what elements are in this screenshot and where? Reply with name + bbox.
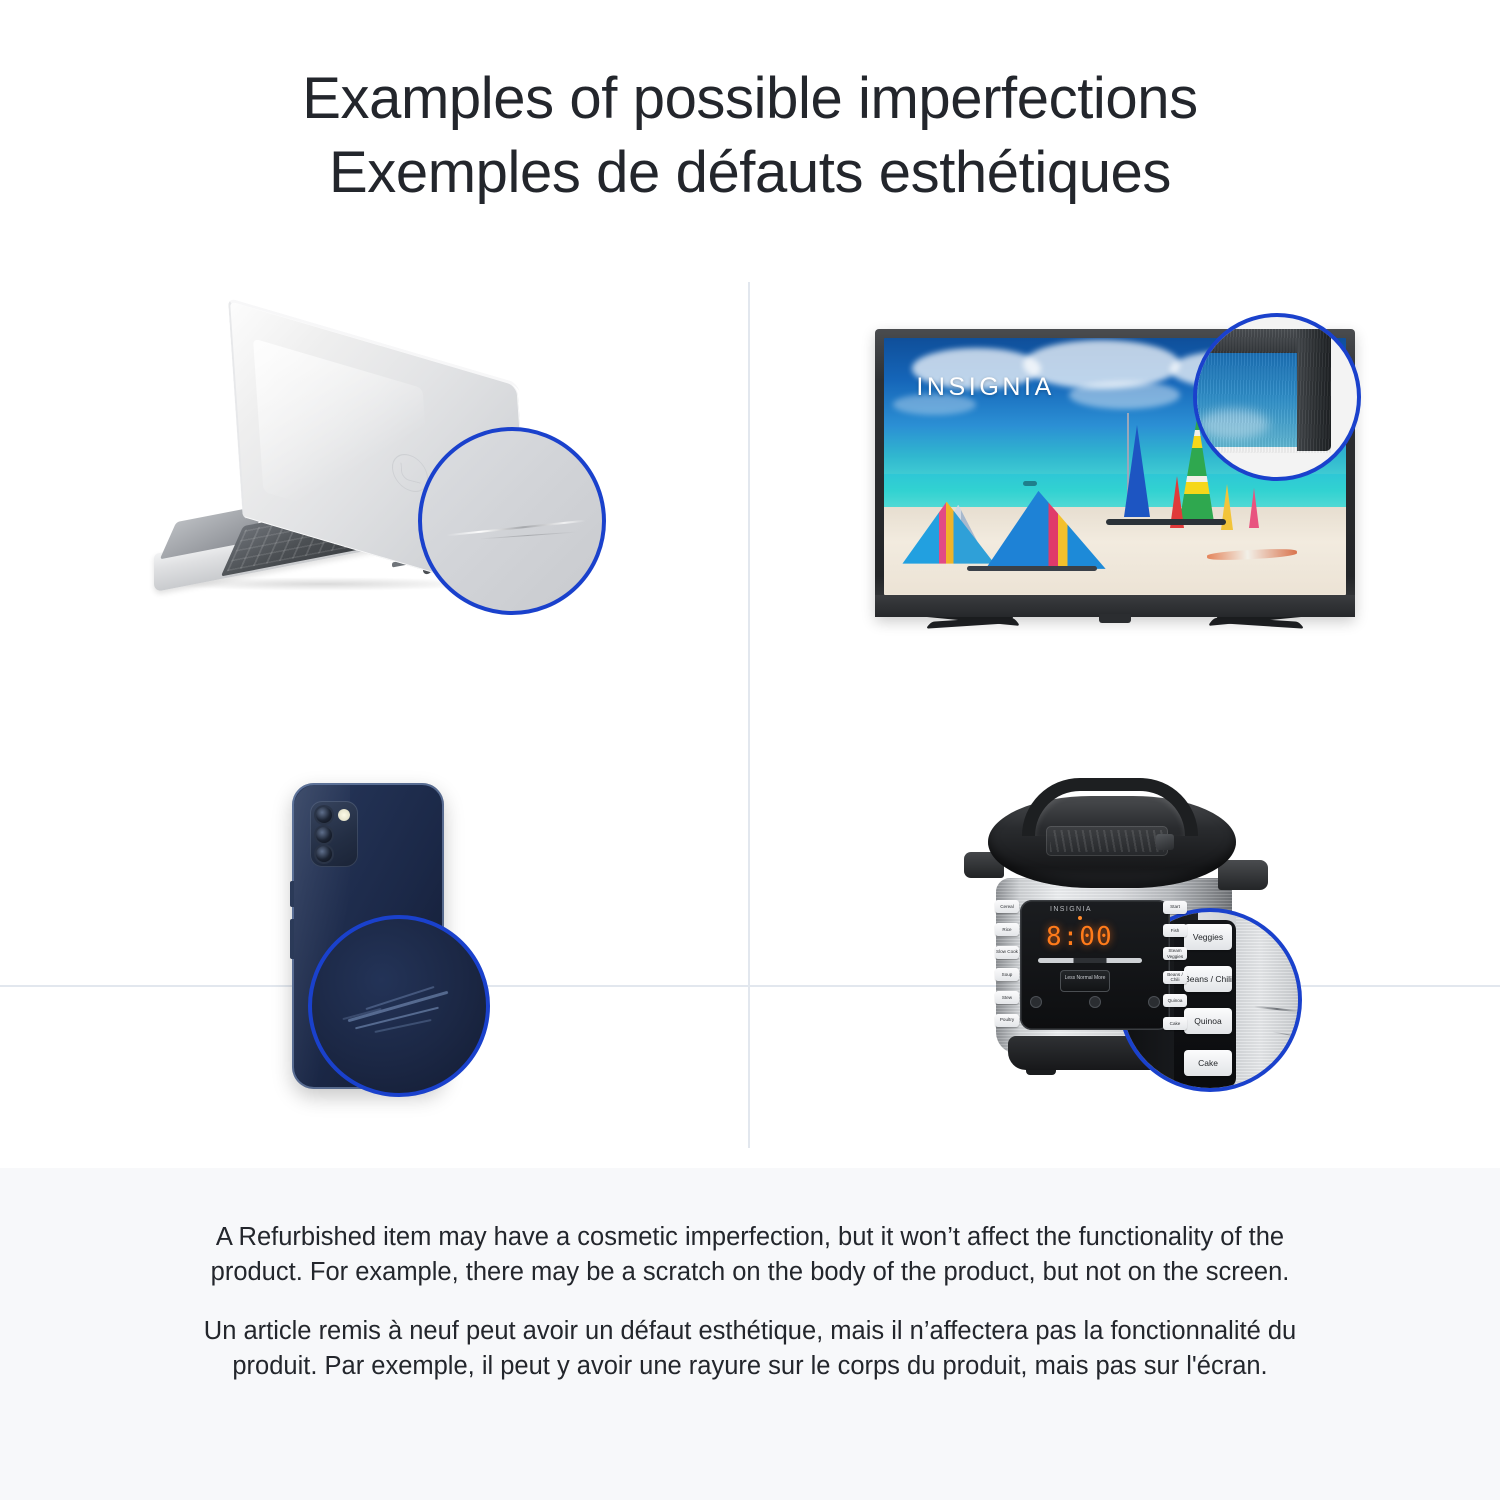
- cooker-button-soup[interactable]: Soup: [995, 968, 1019, 981]
- camera-lens-icon: [316, 827, 332, 843]
- imperfections-infographic: Examples of possible imperfections Exemp…: [0, 0, 1500, 1500]
- cooker-inner-button-row[interactable]: [1030, 996, 1160, 1008]
- distant-boat-shape: [1023, 481, 1037, 486]
- cooker-inner-button[interactable]: [1030, 996, 1042, 1008]
- page-title-fr: Exemples de défauts esthétiques: [329, 136, 1171, 210]
- product-example-grid: INSIGNIA: [0, 262, 1500, 1168]
- cooker-button-quinoa[interactable]: Quinoa: [1163, 994, 1187, 1007]
- cooker-pressure-slider[interactable]: [1038, 958, 1142, 963]
- example-cell-pressure-cooker: INSIGNIA 8:00 Less Normal More Cereal Ri…: [750, 715, 1500, 1168]
- pressure-cooker-illustration: INSIGNIA 8:00 Less Normal More Cereal Ri…: [960, 774, 1290, 1110]
- cooker-handle-right: [1218, 860, 1268, 890]
- cooker-right-button-column[interactable]: Start Fish Steam Veggies Beans / Chili Q…: [1160, 896, 1190, 1036]
- cooker-status-indicator: [1078, 916, 1082, 920]
- magnifier-circle-laptop: [418, 427, 606, 615]
- example-cell-phone: [0, 715, 750, 1168]
- magnifier-circle-tv: [1193, 313, 1361, 481]
- cooker-button-rice[interactable]: Rice: [995, 923, 1019, 936]
- cooker-zoom-button-beans-chili: Beans / Chili: [1184, 966, 1232, 992]
- cooker-zoom-button-cake: Cake: [1184, 1050, 1232, 1076]
- phone-power-button: [290, 919, 294, 959]
- cooker-button-cereal[interactable]: Cereal: [995, 900, 1019, 913]
- cloud-shape: [1069, 381, 1180, 409]
- phone-volume-button: [290, 881, 294, 907]
- sailboat-blue: [1124, 425, 1150, 517]
- cooker-zoom-button-veggies: Veggies: [1184, 924, 1232, 950]
- tv-bezel-scuff-texture: [1193, 329, 1331, 453]
- laptop-illustration: [140, 339, 610, 639]
- sailboat-hull: [1106, 519, 1226, 525]
- cooker-button-steam-veggies[interactable]: Steam Veggies: [1163, 947, 1187, 960]
- cooker-button-slow-cook[interactable]: Slow Cook: [995, 946, 1019, 959]
- cooker-button-beans-chili[interactable]: Beans / Chili: [1163, 971, 1187, 984]
- cooker-button-fish[interactable]: Fish: [1163, 924, 1187, 937]
- phone-camera-module: [310, 801, 358, 867]
- camera-lens-icon: [316, 807, 332, 823]
- example-cell-laptop: [0, 262, 750, 715]
- page-title-en: Examples of possible imperfections: [302, 62, 1197, 136]
- camera-flash-icon: [338, 809, 350, 821]
- disclaimer-paragraph-fr: Un article remis à neuf peut avoir un dé…: [185, 1314, 1315, 1384]
- sailboat-pink: [1249, 488, 1259, 528]
- cooker-lid-handle: [1022, 778, 1198, 836]
- camera-lens-icon: [316, 846, 332, 862]
- disclaimer-paragraph-en: A Refurbished item may have a cosmetic i…: [185, 1220, 1315, 1290]
- tv-illustration: INSIGNIA: [875, 313, 1375, 665]
- cooker-pressure-valve-icon: [1156, 834, 1174, 850]
- cooker-button-cake[interactable]: Cake: [1163, 1017, 1187, 1030]
- cooker-zoomed-button-list: Veggies Beans / Chili Quinoa Cake: [1184, 924, 1232, 1076]
- cooker-inner-button[interactable]: [1089, 996, 1101, 1008]
- cooker-control-panel[interactable]: INSIGNIA 8:00 Less Normal More: [1020, 900, 1170, 1030]
- phone-illustration: [250, 777, 500, 1107]
- cooker-zoom-button-quinoa: Quinoa: [1184, 1008, 1232, 1034]
- cooker-led-display: 8:00: [1046, 924, 1118, 950]
- sailboat-hull-foreground: [967, 566, 1097, 571]
- cooker-button-poultry[interactable]: Poultry: [995, 1014, 1019, 1027]
- cooker-button-stew[interactable]: Stew: [995, 991, 1019, 1004]
- tv-ir-sensor-icon: [1099, 614, 1131, 623]
- cooker-brand-label: INSIGNIA: [1050, 906, 1092, 913]
- cooker-left-button-column[interactable]: Cereal Rice Slow Cook Soup Stew Poultry: [994, 896, 1020, 1032]
- cooker-button-start[interactable]: Start: [1163, 901, 1187, 914]
- example-cell-tv: INSIGNIA: [750, 262, 1500, 715]
- cooker-inner-button[interactable]: [1148, 996, 1160, 1008]
- cooker-mode-button[interactable]: Less Normal More: [1060, 970, 1110, 992]
- magnifier-circle-phone: [308, 915, 490, 1097]
- laptop-scratch-mark-secondary: [480, 531, 576, 539]
- header: Examples of possible imperfections Exemp…: [0, 0, 1500, 262]
- footer-disclaimer: A Refurbished item may have a cosmetic i…: [0, 1168, 1500, 1500]
- cooker-stainless-zoom: [1236, 912, 1302, 1092]
- tv-screen-logo: INSIGNIA: [916, 373, 1055, 402]
